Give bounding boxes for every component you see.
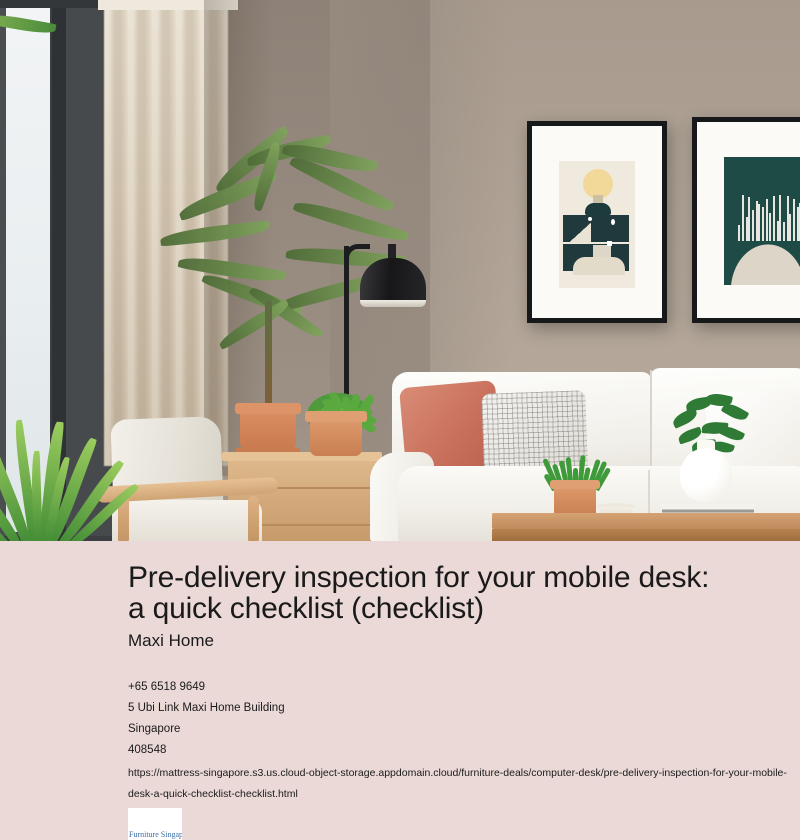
hero-image (0, 0, 800, 541)
art-stair (569, 223, 591, 243)
artwork-abstract-sun (559, 161, 635, 288)
lamp-diffuser (360, 300, 426, 307)
art-pod (573, 257, 625, 275)
page-root: Pre-delivery inspection for your mobile … (0, 0, 800, 840)
coffee-table-top (492, 513, 800, 529)
palm-pot (240, 410, 296, 450)
lamp-arm (344, 244, 370, 270)
terracotta-pot-sideboard (310, 418, 362, 456)
art-dot-3 (607, 241, 612, 246)
fern-plant (0, 352, 110, 541)
contact-details: +65 6518 9649 5 Ubi Link Maxi Home Build… (128, 677, 788, 805)
embedded-card[interactable]: d Furniture Singap (128, 808, 182, 840)
phone-number: +65 6518 9649 (128, 677, 788, 698)
coffee-table-edge (492, 529, 800, 541)
postal-code: 408548 (128, 740, 788, 761)
armchair-seat (112, 500, 262, 541)
country: Singapore (128, 719, 788, 740)
framed-art-left (527, 121, 667, 323)
art-sticks (738, 193, 800, 241)
white-vase (680, 448, 732, 502)
address-line: 5 Ubi Link Maxi Home Building (128, 698, 788, 719)
embedded-card-caption: d Furniture Singap (128, 830, 182, 839)
brand-name: Maxi Home (128, 631, 214, 651)
page-title: Pre-delivery inspection for your mobile … (128, 562, 718, 624)
art-dot-2 (611, 219, 615, 225)
framed-art-right (692, 117, 800, 323)
window-header (0, 0, 112, 8)
content-panel: Pre-delivery inspection for your mobile … (0, 541, 800, 840)
art-cap (585, 203, 611, 215)
page-url[interactable]: https://mattress-singapore.s3.us.cloud-o… (128, 763, 788, 805)
art-dot-1 (588, 217, 592, 221)
artwork-abstract-peak (724, 157, 800, 285)
armchair-leg-right (248, 496, 259, 541)
lamp-shade (360, 258, 426, 306)
